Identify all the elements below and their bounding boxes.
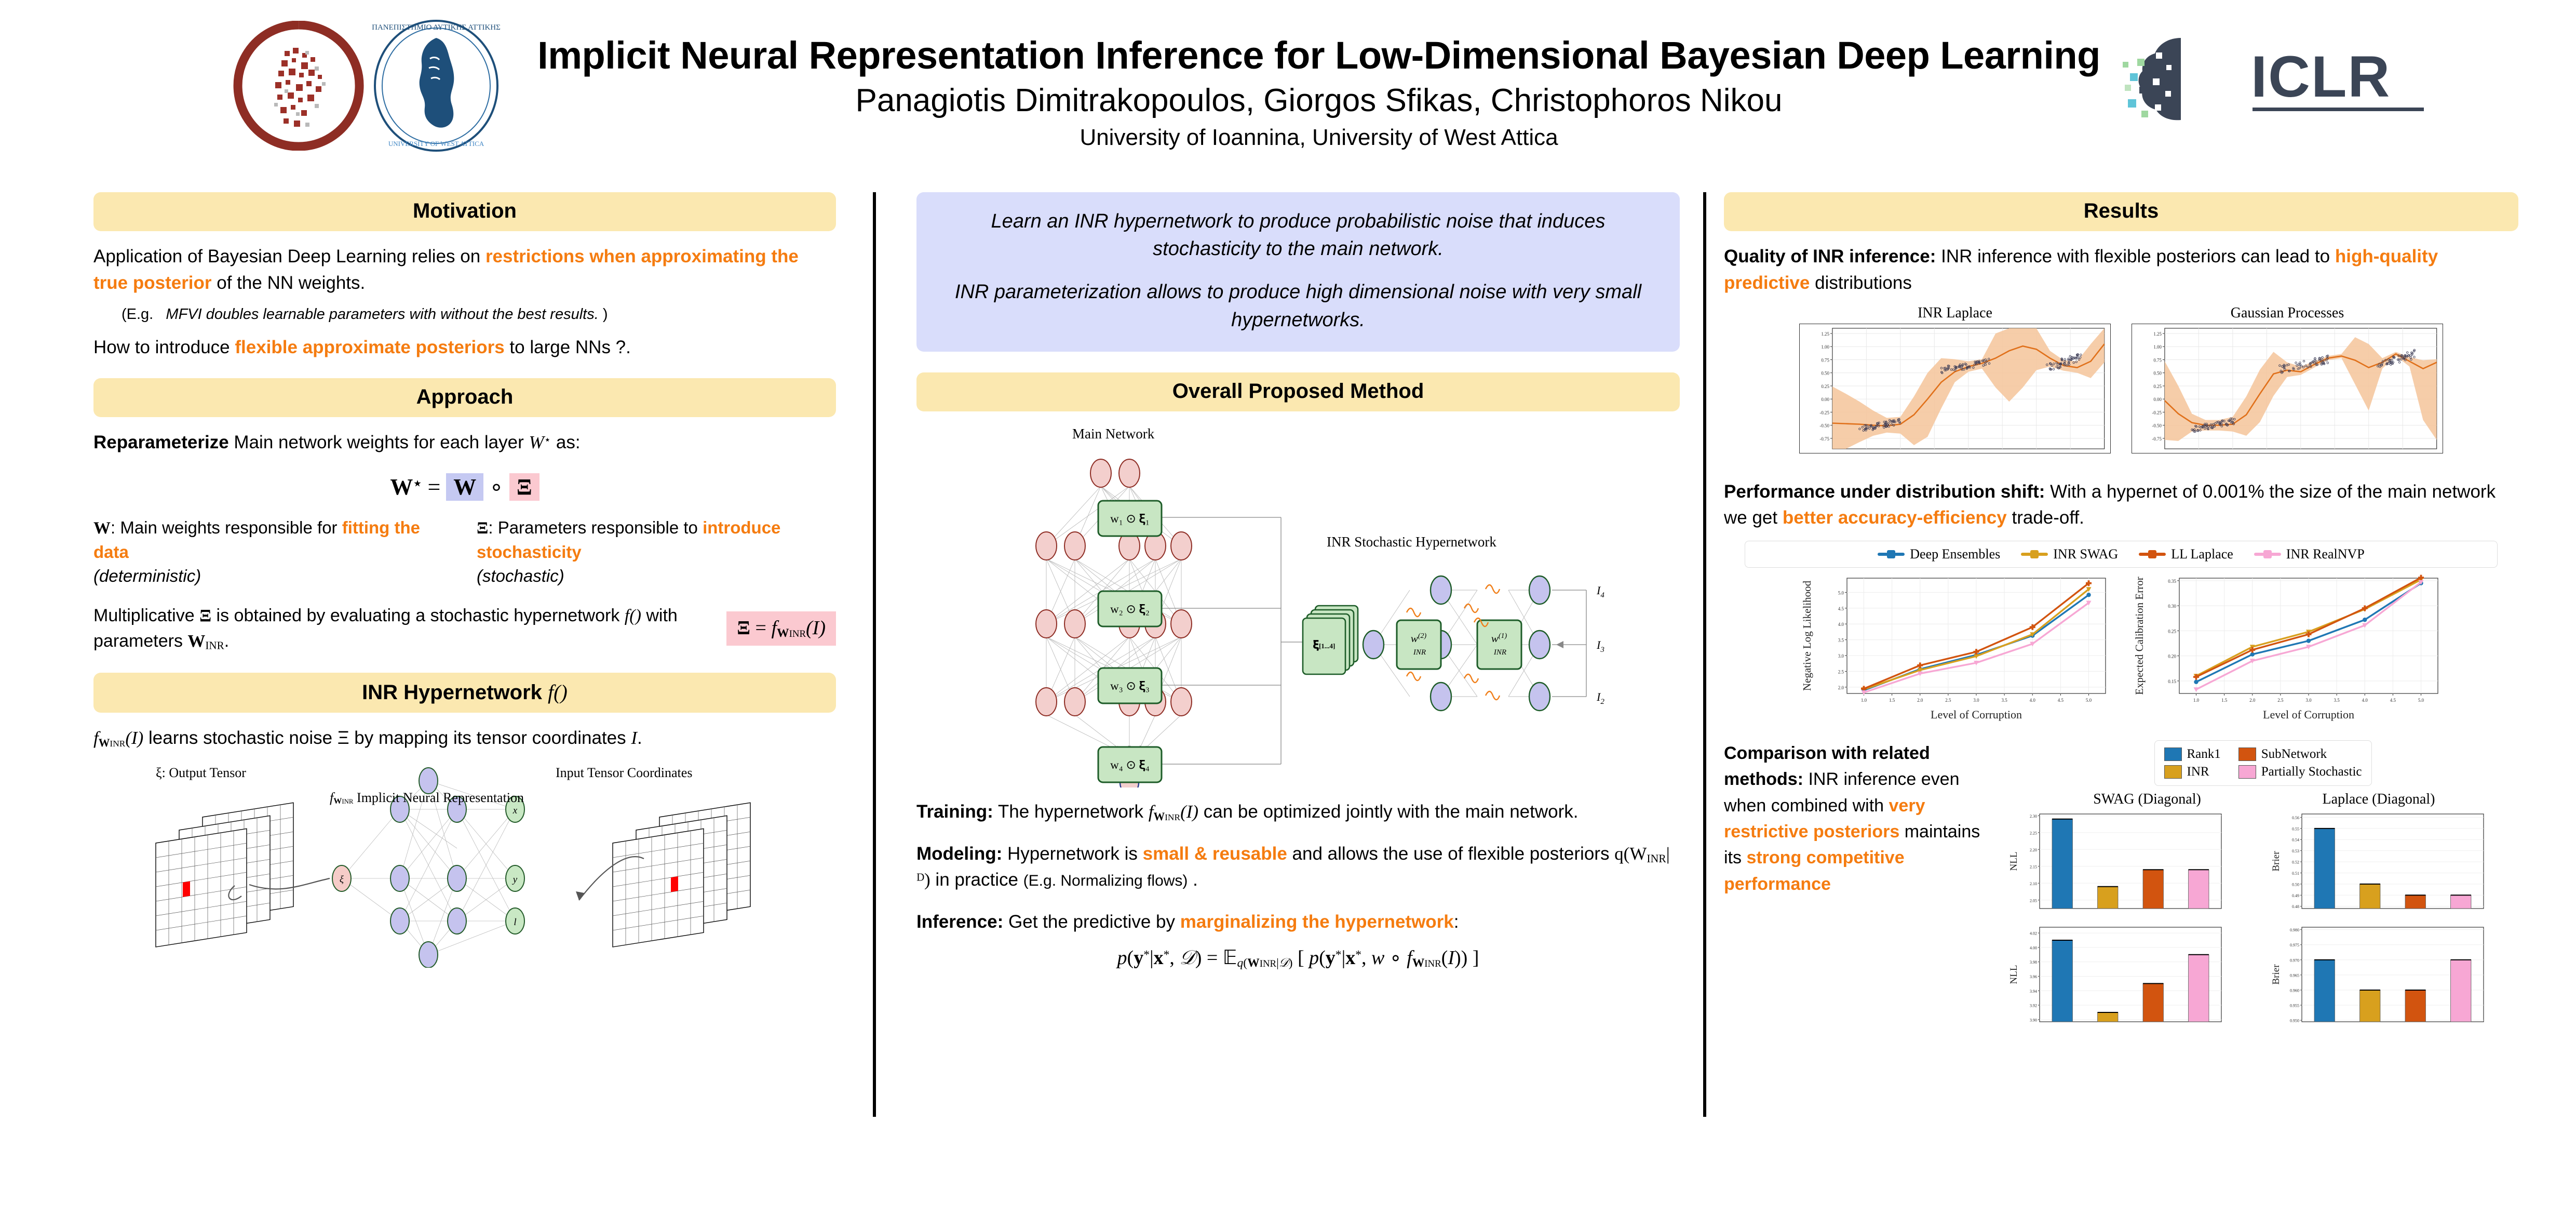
svg-text:0.15: 0.15 <box>2168 679 2176 684</box>
svg-text:1.5: 1.5 <box>1889 698 1895 703</box>
svg-text:3.0: 3.0 <box>2305 698 2312 703</box>
svg-text:1.25: 1.25 <box>2153 331 2162 336</box>
formula-equals: = <box>427 474 440 500</box>
svg-text:1.0: 1.0 <box>1861 698 1867 703</box>
modeling-highlight: small & reusable <box>1143 844 1287 864</box>
svg-text:0.975: 0.975 <box>2290 943 2299 947</box>
svg-text:2.0: 2.0 <box>1838 685 1844 690</box>
svg-text:y: y <box>512 874 518 885</box>
comparison-section: Comparison with related methods: INR inf… <box>1724 740 2518 1027</box>
modeling-c: in practice <box>930 870 1023 890</box>
iclr-underline <box>2253 108 2424 111</box>
svg-text:1.25: 1.25 <box>1821 331 1829 336</box>
corruption-chart-pair: 2.02.53.03.54.04.55.01.01.52.02.53.03.54… <box>1724 572 2518 723</box>
svg-text:3.90: 3.90 <box>2030 1018 2037 1022</box>
legend-label-ll-laplace: LL Laplace <box>2171 546 2233 562</box>
inr-heading-label: INR Hypernetwork <box>362 681 542 704</box>
legend-item-subnetwork: SubNetwork <box>2238 747 2362 762</box>
svg-text:-0.50: -0.50 <box>1819 423 1829 428</box>
svg-text:0.00: 0.00 <box>2153 397 2162 402</box>
inr-desc-rest: learns stochastic noise Ξ by mapping its… <box>143 728 631 748</box>
svg-text:0.50: 0.50 <box>2292 882 2299 887</box>
modeling-sub: INR <box>1647 852 1666 864</box>
svg-text:0.20: 0.20 <box>2168 654 2176 659</box>
svg-text:l: l <box>514 917 516 928</box>
shift-paragraph: Performance under distribution shift: Wi… <box>1724 479 2518 532</box>
svg-text:-0.25: -0.25 <box>1819 410 1829 415</box>
inr-laplace-plot: 1.251.000.750.500.250.00-0.25-0.50-0.75 <box>1799 324 2111 453</box>
svg-text:2.20: 2.20 <box>2030 848 2037 852</box>
svg-text:4.5: 4.5 <box>2390 698 2396 703</box>
legend-item-partially-stochastic: Partially Stochastic <box>2238 765 2362 779</box>
formula-star: ⋆ <box>413 476 422 491</box>
legend-label-deep-ensembles: Deep Ensembles <box>1910 546 2000 562</box>
page-title: Implicit Neural Representation Inference… <box>524 36 2113 75</box>
results-heading-label: Results <box>2084 199 2159 222</box>
approach-multiplicative-text: Multiplicative Ξ is obtained by evaluati… <box>93 603 713 655</box>
left-column: Motivation Application of Bayesian Deep … <box>93 192 836 968</box>
main-network-label: Main Network <box>1072 426 1154 442</box>
inr-desc-I: I <box>631 728 637 748</box>
legend-swatch-partially-stochastic <box>2238 765 2256 779</box>
svg-text:0.75: 0.75 <box>1821 357 1829 363</box>
modeling-q: q(W <box>1614 844 1647 864</box>
corruption-legend: Deep Ensembles INR SWAG LL Laplace INR R… <box>1745 541 2498 568</box>
svg-text:5.0: 5.0 <box>1838 590 1844 595</box>
approach-left-def: W: Main weights responsible for fitting … <box>93 516 453 589</box>
pinkbox-eq: = <box>756 617 766 639</box>
formula-xi-box: Ξ <box>509 473 540 501</box>
pinkbox-arg: (I) <box>806 617 826 639</box>
modeling-b: and allows the use of flexible posterior… <box>1287 844 1614 864</box>
svg-text:0.25: 0.25 <box>1821 383 1829 389</box>
legend-swatch-ll-laplace <box>2139 553 2166 556</box>
diagram-input-tensor-label: Input Tensor Coordinates <box>556 765 692 781</box>
svg-text:Negative Log Likelihood: Negative Log Likelihood <box>1801 580 1813 691</box>
svg-text:Brier: Brier <box>2271 851 2282 872</box>
laplace-brier-bars: 0.480.490.500.510.520.530.540.550.56Brie… <box>2270 810 2488 914</box>
methods-legend: Rank1 SubNetwork INR Partially Stochasti… <box>2154 740 2372 786</box>
motivation-p1-prefix: Application of Bayesian Deep Learning re… <box>93 246 485 266</box>
svg-text:Level of Corruption: Level of Corruption <box>1931 708 2022 721</box>
column-divider-1 <box>873 192 876 1117</box>
training-f: f <box>1149 802 1154 822</box>
legend-swatch-inr-realnvp <box>2254 553 2281 556</box>
svg-text:-0.25: -0.25 <box>2152 410 2162 415</box>
section-header-motivation: Motivation <box>93 192 836 231</box>
svg-text:4.0: 4.0 <box>1838 622 1844 627</box>
legend-label-inr: INR <box>2187 765 2209 779</box>
affiliation: University of Ioannina, University of We… <box>524 124 2113 152</box>
svg-text:w₂ ⊙ 𝛏₂: w₂ ⊙ 𝛏₂ <box>1110 603 1150 616</box>
svg-text:0.25: 0.25 <box>2153 383 2162 389</box>
svg-text:3.5: 3.5 <box>2002 698 2008 703</box>
inr-desc-end: . <box>637 728 642 748</box>
svg-text:5.0: 5.0 <box>2418 698 2424 703</box>
legend-item-deep-ensembles: Deep Ensembles <box>1878 546 2000 562</box>
quality-label: Quality of INR inference: <box>1724 246 1936 266</box>
svg-text:3.96: 3.96 <box>2030 974 2037 979</box>
motivation-paragraph-2: How to introduce flexible approximate po… <box>93 335 836 361</box>
svg-text:NLL: NLL <box>2008 965 2019 984</box>
svg-text:5.0: 5.0 <box>2086 698 2092 703</box>
motivation-paragraph-1: Application of Bayesian Deep Learning re… <box>93 244 836 297</box>
svg-text:0.55: 0.55 <box>2292 826 2299 831</box>
svg-text:Brier: Brier <box>2271 964 2282 985</box>
eg-suffix: ) <box>603 306 608 323</box>
svg-text:0.51: 0.51 <box>2292 871 2299 876</box>
multi-f: f() <box>625 606 641 625</box>
approach-right-text: : Parameters responsible to <box>488 518 703 537</box>
ece-corruption-plot: 0.150.200.250.300.351.01.52.02.53.03.54.… <box>2132 572 2443 723</box>
svg-text:4.5: 4.5 <box>1838 606 1844 611</box>
training-label: Training: <box>916 802 993 822</box>
diagram-inr-label: fWINR Implicit Neural Representation <box>330 790 524 807</box>
svg-text:3.98: 3.98 <box>2030 960 2037 965</box>
quality-a: INR inference with flexible posteriors c… <box>1936 246 2335 266</box>
multi-symbol: Ξ <box>199 606 211 625</box>
svg-text:INR: INR <box>1493 648 1506 657</box>
multi-d: . <box>224 631 229 651</box>
svg-text:2.0: 2.0 <box>1917 698 1923 703</box>
pinkbox-xi: Ξ <box>737 617 750 639</box>
svg-text:I3: I3 <box>1596 638 1604 654</box>
svg-text:x: x <box>512 805 518 816</box>
svg-text:3.94: 3.94 <box>2030 989 2037 994</box>
regression-chart-pair: INR Laplace 1.251.000.750.500.250.00-0.2… <box>1724 305 2518 456</box>
svg-text:4.5: 4.5 <box>2058 698 2064 703</box>
svg-text:0.955: 0.955 <box>2290 1004 2299 1008</box>
svg-text:ξ: ξ <box>340 874 344 885</box>
svg-text:0.56: 0.56 <box>2292 816 2299 820</box>
inr-heading-fn: f() <box>548 680 568 704</box>
svg-text:1.0: 1.0 <box>2193 698 2200 703</box>
bar-chart-titles-row: SWAG (Diagonal) Laplace (Diagonal) <box>2007 791 2518 810</box>
legend-swatch-subnetwork <box>2238 747 2256 761</box>
svg-text:2.5: 2.5 <box>1838 669 1844 674</box>
multi-a: Multiplicative <box>93 606 199 625</box>
approach-left-note: (deterministic) <box>93 566 201 585</box>
gaussian-processes-chart: Gaussian Processes 1.251.000.750.500.250… <box>2132 305 2443 456</box>
svg-text:UNIVERSITY OF WEST ATTICA: UNIVERSITY OF WEST ATTICA <box>388 140 484 148</box>
nll-corruption-plot: 2.02.53.03.54.04.55.01.01.52.02.53.03.54… <box>1799 572 2111 723</box>
motivation-p2-suffix: to large NNs ?. <box>505 337 631 357</box>
svg-text:0.965: 0.965 <box>2290 973 2299 978</box>
svg-text:1.5: 1.5 <box>2221 698 2228 703</box>
pinkbox-sub2: INR <box>789 629 806 639</box>
legend-label-partially-stochastic: Partially Stochastic <box>2261 765 2362 779</box>
shift-label: Performance under distribution shift: <box>1724 482 2045 502</box>
svg-text:0.960: 0.960 <box>2290 988 2299 993</box>
inr-desc-sub: W <box>99 737 110 749</box>
svg-text:w₃ ⊙ 𝛏₃: w₃ ⊙ 𝛏₃ <box>1110 679 1150 692</box>
eg-italic-text: MFVI doubles learnable parameters with w… <box>166 306 598 323</box>
laplace-diagonal-title: Laplace (Diagonal) <box>2270 791 2488 808</box>
svg-text:0.52: 0.52 <box>2292 860 2299 865</box>
svg-text:2.10: 2.10 <box>2030 882 2037 886</box>
pinkbox-sub: W <box>777 626 789 640</box>
svg-text:w₁ ⊙ 𝛏₁: w₁ ⊙ 𝛏₁ <box>1110 512 1150 525</box>
svg-text:INR: INR <box>1413 648 1426 657</box>
svg-text:0.48: 0.48 <box>2292 904 2299 909</box>
quality-paragraph: Quality of INR inference: INR inference … <box>1724 244 2518 297</box>
inr-laplace-title: INR Laplace <box>1799 305 2111 322</box>
quality-b: distributions <box>1810 273 1911 293</box>
multi-b: is obtained by evaluating a stochastic h… <box>211 606 625 625</box>
approach-lead: Reparameterize Main network weights for … <box>93 430 836 456</box>
svg-text:0.980: 0.980 <box>2290 928 2299 932</box>
iclr-brain-icon <box>2119 29 2243 132</box>
svg-text:0.53: 0.53 <box>2292 849 2299 853</box>
modeling-a: Hypernetwork is <box>1002 844 1142 864</box>
inference-block: Inference: Get the predictive by margina… <box>916 909 1680 972</box>
multi-w: W <box>187 632 205 651</box>
inr-description: fWINR(I) learns stochastic noise Ξ by ma… <box>93 725 836 752</box>
svg-text:4.0: 4.0 <box>2030 698 2036 703</box>
legend-item-rank1: Rank1 <box>2164 747 2221 762</box>
university-of-west-attica-logo: ΠΑΝΕΠΙΣΤΗΜΙΟ ΔΥΤΙΚΗΣ ΑΤΤΙΚΗΣ UNIVERSITY … <box>358 18 514 153</box>
svg-text:4.0: 4.0 <box>2362 698 2368 703</box>
svg-text:2.15: 2.15 <box>2030 864 2037 869</box>
inr-laplace-chart: INR Laplace 1.251.000.750.500.250.00-0.2… <box>1799 305 2111 456</box>
modeling-small: (E.g. Normalizing flows) <box>1023 872 1188 889</box>
middle-column: Learn an INR hypernetwork to produce pro… <box>916 192 1680 988</box>
key-idea-box: Learn an INR hypernetwork to produce pro… <box>916 192 1680 352</box>
shift-highlight: better accuracy-efficiency <box>1783 508 2007 528</box>
key-idea-line-1: Learn an INR hypernetwork to produce pro… <box>942 208 1654 263</box>
comparison-charts: Rank1 SubNetwork INR Partially Stochasti… <box>2007 740 2518 1027</box>
svg-text:0.30: 0.30 <box>2168 604 2176 609</box>
svg-text:-0.75: -0.75 <box>2152 436 2162 441</box>
iclr-logo: ICLR <box>2119 29 2555 132</box>
gp-title: Gaussian Processes <box>2132 305 2443 322</box>
swag-nll-bars: 2.052.102.152.202.252.30NLL <box>2007 810 2226 914</box>
section-header-results: Results <box>1724 192 2518 231</box>
inference-a: Get the predictive by <box>1003 912 1180 932</box>
svg-text:NLL: NLL <box>2008 852 2019 871</box>
approach-lead-tail: as: <box>551 432 580 452</box>
svg-text:1.00: 1.00 <box>1821 344 1829 350</box>
svg-text:3.5: 3.5 <box>1838 638 1844 643</box>
hypernetwork-label: INR Stochastic Hypernetwork <box>1327 534 1496 550</box>
multi-sub: INR <box>205 639 224 651</box>
legend-item-ll-laplace: LL Laplace <box>2139 546 2233 562</box>
method-diagram-svg: w₁ ⊙ 𝛏₁ w₂ ⊙ 𝛏₂ w₃ ⊙ 𝛏₃ w₄ ⊙ 𝛏₄ 𝛏[1...4] <box>916 424 1680 787</box>
svg-text:2.5: 2.5 <box>2277 698 2284 703</box>
column-divider-2 <box>1703 192 1706 1117</box>
legend-item-inr-swag: INR SWAG <box>2021 546 2118 562</box>
legend-item-inr-realnvp: INR RealNVP <box>2254 546 2365 562</box>
svg-text:3.5: 3.5 <box>2334 698 2340 703</box>
svg-text:Level of Corruption: Level of Corruption <box>2263 708 2354 721</box>
section-header-inr-hypernetwork: INR Hypernetwork f() <box>93 673 836 713</box>
approach-heading-label: Approach <box>416 385 514 408</box>
section-header-overall-method: Overall Proposed Method <box>916 372 1680 411</box>
svg-text:2.30: 2.30 <box>2030 814 2037 819</box>
motivation-example: (E.g. MFVI doubles learnable parameters … <box>122 306 836 323</box>
svg-text:0.50: 0.50 <box>2153 370 2162 376</box>
inr-desc-f: f <box>93 728 99 748</box>
shift-b: trade-off. <box>2007 508 2084 528</box>
svg-text:2.0: 2.0 <box>2249 698 2256 703</box>
formula-w-box: W <box>446 473 483 501</box>
svg-text:1.00: 1.00 <box>2153 344 2162 350</box>
training-a: The hypernetwork <box>993 802 1149 822</box>
svg-text:w₄ ⊙ 𝛏₄: w₄ ⊙ 𝛏₄ <box>1110 758 1150 771</box>
overall-method-diagram: Main Network INR Stochastic Hypernetwork <box>916 424 1680 787</box>
inference-highlight: marginalizing the hypernetwork <box>1180 912 1454 932</box>
university-of-ioannina-logo <box>223 21 374 151</box>
motivation-p2-highlight: flexible approximate posteriors <box>235 337 504 357</box>
svg-text:3.0: 3.0 <box>1838 653 1844 659</box>
training-block: Training: The hypernetwork fWINR(I) can … <box>916 799 1680 825</box>
svg-text:2.05: 2.05 <box>2030 898 2037 903</box>
formula-circ: ∘ <box>489 474 504 500</box>
legend-label-subnetwork: SubNetwork <box>2261 747 2327 762</box>
legend-label-inr-realnvp: INR RealNVP <box>2286 546 2365 562</box>
approach-right-note: (stochastic) <box>477 566 564 585</box>
laplace-brier-bars-2: 0.9500.9550.9600.9650.9700.9750.980Brier <box>2270 923 2488 1027</box>
approach-right-def: Ξ: Parameters responsible to introduce s… <box>477 516 836 589</box>
inference-label: Inference: <box>916 912 1003 932</box>
modeling-block: Modeling: Hypernetwork is small & reusab… <box>916 841 1680 894</box>
right-column: Results Quality of INR inference: INR in… <box>1724 192 2518 1027</box>
approach-multiplicative-row: Multiplicative Ξ is obtained by evaluati… <box>93 603 836 655</box>
svg-text:0.00: 0.00 <box>1821 397 1829 402</box>
section-header-approach: Approach <box>93 378 836 417</box>
svg-text:0.50: 0.50 <box>1821 370 1829 376</box>
swag-diagonal-title: SWAG (Diagonal) <box>2038 791 2256 808</box>
approach-two-col: W: Main weights responsible for fitting … <box>93 516 836 589</box>
diagram-output-tensor-label: ξ: Output Tensor <box>156 765 246 781</box>
training-b: can be optimized jointly with the main n… <box>1198 802 1578 822</box>
modeling-d: . <box>1188 870 1197 890</box>
approach-lead-bold: Reparameterize <box>93 432 229 452</box>
bar-chart-grid: 2.052.102.152.202.252.30NLL 0.480.490.50… <box>2007 810 2518 1027</box>
legend-swatch-inr <box>2164 765 2182 779</box>
comparison-paragraph: Comparison with related methods: INR inf… <box>1724 740 1994 897</box>
approach-lead-symbol: W <box>529 432 544 452</box>
motivation-p2-prefix: How to introduce <box>93 337 235 357</box>
inr-desc-arg: (I) <box>125 728 143 748</box>
title-block: Implicit Neural Representation Inference… <box>524 36 2113 152</box>
author-list: Panagiotis Dimitrakopoulos, Giorgos Sfik… <box>524 82 2113 119</box>
legend-label-rank1: Rank1 <box>2187 747 2221 762</box>
approach-left-symbol: W <box>93 519 111 538</box>
svg-text:3.0: 3.0 <box>1973 698 1979 703</box>
inr-desc-sub2: INR <box>110 739 125 749</box>
cmp-highlight-2: strong competitive performance <box>1724 848 1905 893</box>
svg-text:ΠΑΝΕΠΙΣΤΗΜΙΟ ΔΥΤΙΚΗΣ ΑΤΤΙΚΗΣ: ΠΑΝΕΠΙΣΤΗΜΙΟ ΔΥΤΙΚΗΣ ΑΤΤΙΚΗΣ <box>372 23 501 32</box>
svg-text:0.75: 0.75 <box>2153 357 2162 363</box>
legend-swatch-rank1 <box>2164 747 2182 761</box>
inference-b: : <box>1454 912 1459 932</box>
approach-xi-equation-box: Ξ = fWINR(I) <box>726 611 836 646</box>
legend-swatch-inr-swag <box>2021 553 2048 556</box>
motivation-p1-suffix: of the NN weights. <box>212 273 366 293</box>
motivation-heading-label: Motivation <box>413 199 517 222</box>
poster-root: ΠΑΝΕΠΙΣΤΗΜΙΟ ΔΥΤΙΚΗΣ ΑΤΤΙΚΗΣ UNIVERSITY … <box>0 0 2576 1215</box>
approach-left-text: : Main weights responsible for <box>111 518 342 537</box>
svg-text:I4: I4 <box>1596 584 1604 599</box>
modeling-label: Modeling: <box>916 844 1002 864</box>
approach-right-symbol: Ξ <box>477 519 488 538</box>
svg-text:4.02: 4.02 <box>2030 931 2037 936</box>
legend-swatch-deep-ensembles <box>1878 553 1905 556</box>
svg-text:Expected Calibration Error: Expected Calibration Error <box>2133 577 2146 695</box>
svg-text:3.92: 3.92 <box>2030 1004 2037 1008</box>
pinkbox-f: f <box>771 617 777 639</box>
svg-text:-0.50: -0.50 <box>2152 423 2162 428</box>
svg-text:-0.75: -0.75 <box>1819 436 1829 441</box>
iclr-wordmark: ICLR <box>2251 43 2391 110</box>
approach-lead-rest: Main network weights for each layer <box>229 432 529 452</box>
key-idea-line-2: INR parameterization allows to produce h… <box>942 278 1654 333</box>
svg-text:I2: I2 <box>1596 690 1604 706</box>
overall-method-heading-label: Overall Proposed Method <box>1172 380 1424 403</box>
swag-nll-bars-2: 3.903.923.943.963.984.004.02NLL <box>2007 923 2226 1027</box>
svg-text:2.25: 2.25 <box>2030 831 2037 835</box>
svg-text:0.54: 0.54 <box>2292 838 2299 843</box>
svg-text:0.25: 0.25 <box>2168 629 2176 634</box>
approach-formula: W⋆ = W ∘ Ξ <box>93 474 836 500</box>
poster-header: ΠΑΝΕΠΙΣΤΗΜΙΟ ΔΥΤΙΚΗΣ ΑΤΤΙΚΗΣ UNIVERSITY … <box>0 0 2576 171</box>
svg-text:0.950: 0.950 <box>2290 1019 2299 1023</box>
legend-item-inr: INR <box>2164 765 2221 779</box>
legend-label-inr-swag: INR SWAG <box>2053 546 2118 562</box>
formula-lhs: W <box>390 474 413 500</box>
svg-text:0.970: 0.970 <box>2290 958 2299 963</box>
inference-equation: p(y*|x*, 𝒟) = 𝔼q(WINR|𝒟) [ p(y*|x*, w ∘ … <box>916 944 1680 972</box>
svg-text:2.5: 2.5 <box>1945 698 1951 703</box>
inr-hypernetwork-diagram: ξ: Output Tensor Input Tensor Coordinate… <box>93 765 836 968</box>
svg-text:0.49: 0.49 <box>2292 893 2299 898</box>
training-arg: (I) <box>1180 802 1198 822</box>
svg-text:0.35: 0.35 <box>2168 579 2176 584</box>
gp-plot: 1.251.000.750.500.250.00-0.25-0.50-0.75 <box>2132 324 2443 453</box>
svg-text:4.00: 4.00 <box>2030 945 2037 950</box>
eg-prefix: (E.g. <box>122 306 153 323</box>
